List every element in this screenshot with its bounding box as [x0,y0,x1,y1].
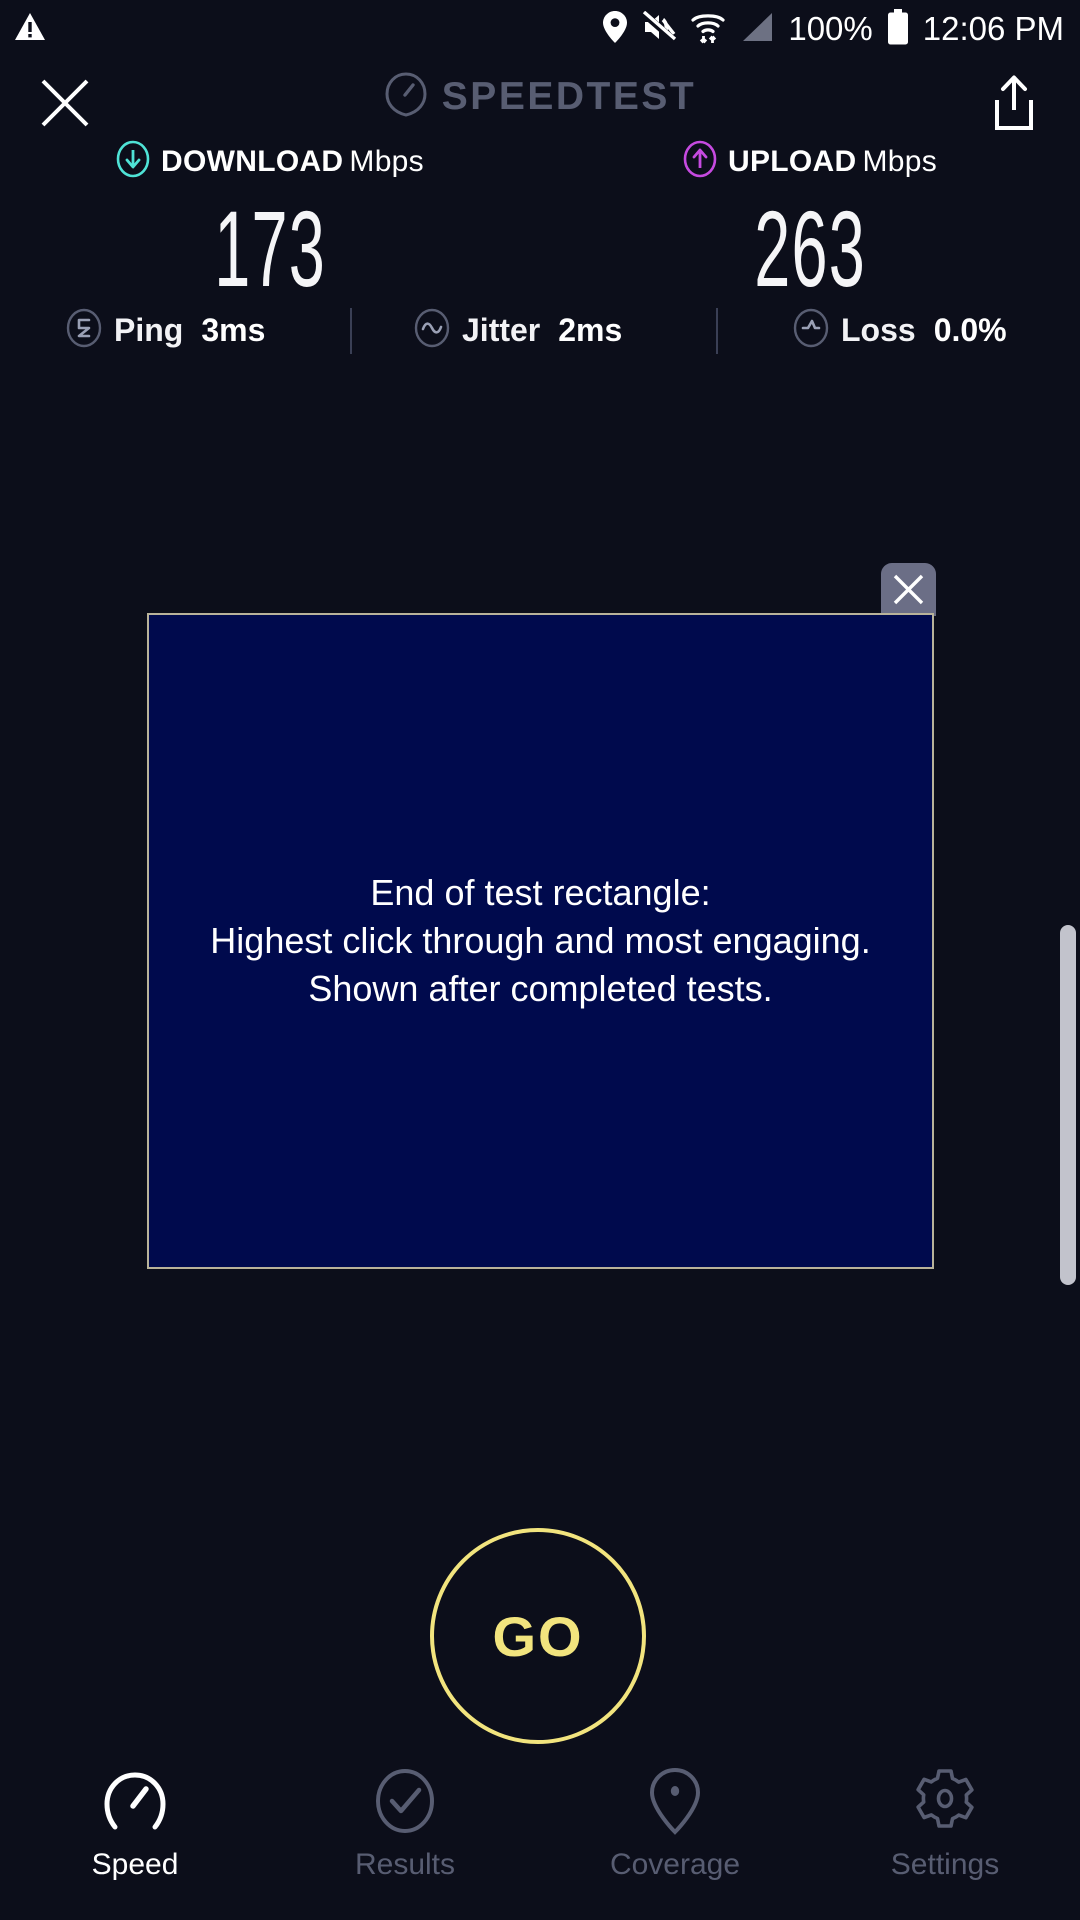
jitter-icon [414,308,450,353]
speedtest-app-screen: 100% 12:06 PM SPEEDTEST [0,0,1080,1920]
go-button-label: GO [492,1604,583,1669]
app-title-group: SPEEDTEST [0,70,1080,123]
arrow-up-circle-icon [683,140,717,183]
status-bar-left [14,12,46,47]
cellular-signal-icon [740,11,774,48]
loss-label: Loss [841,312,916,349]
ping-label: Ping [114,312,183,349]
check-circle-icon [372,1770,438,1832]
battery-percent-label: 100% [788,10,872,48]
download-label-row: DOWNLOADMbps [116,140,424,183]
nav-item-settings[interactable]: Settings [810,1770,1080,1882]
location-pin-icon [602,10,628,49]
upload-value: 263 [754,195,866,303]
bottom-navigation-bar: Speed Results Coverage [0,1756,1080,1920]
nav-item-speed[interactable]: Speed [0,1770,270,1882]
status-bar: 100% 12:06 PM [0,0,1080,58]
metrics-divider-1 [350,308,352,354]
network-metrics-row: Ping 3ms Jitter 2ms Loss 0.0% [0,300,1080,360]
download-value: 173 [214,195,326,303]
results-summary: DOWNLOADMbps 173 UPLOADMbps 263 [0,140,1080,303]
nav-label-results: Results [355,1848,455,1882]
upload-result: UPLOADMbps 263 [540,140,1080,303]
jitter-metric: Jitter 2ms [414,300,622,360]
download-upload-row: DOWNLOADMbps 173 UPLOADMbps 263 [0,140,1080,303]
nav-label-coverage: Coverage [610,1848,740,1882]
upload-label-row: UPLOADMbps [683,140,937,183]
jitter-label: Jitter [462,312,540,349]
warning-triangle-icon [14,12,46,47]
metrics-divider-2 [716,308,718,354]
nav-label-speed: Speed [92,1848,179,1882]
advertisement-banner[interactable]: End of test rectangle: Highest click thr… [147,613,934,1269]
ad-line-2: Highest click through and most engaging. [155,917,926,965]
speedometer-icon [102,1770,168,1832]
location-pin-icon [648,1770,702,1832]
app-header: SPEEDTEST [0,58,1080,146]
loss-metric: Loss 0.0% [793,300,1007,360]
ad-line-1: End of test rectangle: [155,869,926,917]
ping-icon [66,308,102,353]
vertical-scrollbar[interactable] [1060,925,1076,1285]
gear-icon [912,1770,978,1832]
nav-item-coverage[interactable]: Coverage [540,1770,810,1882]
page-title: SPEEDTEST [442,75,696,119]
wifi-icon [690,9,726,50]
loss-value: 0.0% [934,312,1007,349]
nav-item-results[interactable]: Results [270,1770,540,1882]
ping-metric: Ping 3ms [66,300,265,360]
ad-text: End of test rectangle: Highest click thr… [149,869,932,1013]
battery-full-icon [887,9,909,50]
close-icon [892,573,925,606]
clock-label: 12:06 PM [923,10,1064,48]
mute-icon [642,11,676,48]
arrow-down-circle-icon [116,140,150,183]
ping-value: 3ms [201,312,265,349]
share-button[interactable] [990,74,1038,132]
nav-label-settings: Settings [891,1848,999,1882]
upload-label: UPLOADMbps [728,145,937,179]
download-result: DOWNLOADMbps 173 [0,140,540,303]
download-label: DOWNLOADMbps [161,145,424,179]
go-button[interactable]: GO [430,1528,646,1744]
ad-line-3: Shown after completed tests. [155,965,926,1013]
ad-close-button[interactable] [881,563,936,616]
speedometer-icon [384,70,428,123]
loss-icon [793,308,829,353]
jitter-value: 2ms [558,312,622,349]
status-bar-right: 100% 12:06 PM [602,9,1064,50]
